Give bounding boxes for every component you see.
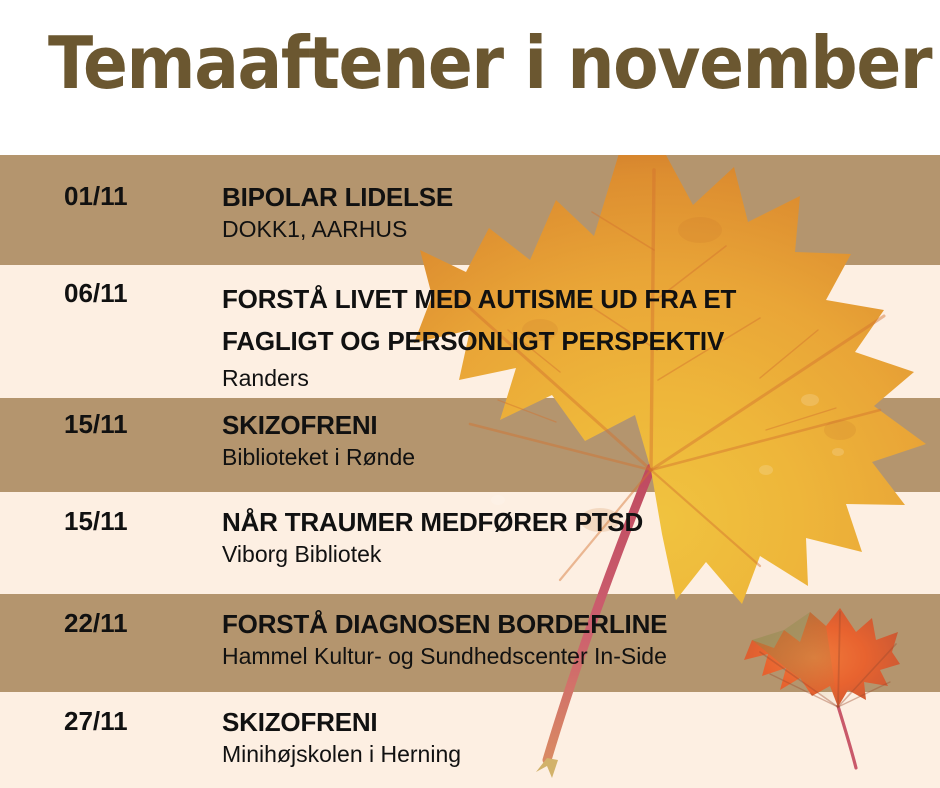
list-item[interactable]: 27/11 SKIZOFRENI Minihøjskolen i Herning	[0, 706, 940, 768]
entry-title: BIPOLAR LIDELSE	[222, 181, 940, 213]
entry-date: 06/11	[0, 278, 158, 308]
list-item[interactable]: 01/11 BIPOLAR LIDELSE DOKK1, AARHUS	[0, 181, 940, 243]
entry-body: SKIZOFRENI Minihøjskolen i Herning	[158, 706, 940, 768]
entry-venue: Viborg Bibliotek	[222, 540, 940, 568]
entry-title: SKIZOFRENI	[222, 409, 940, 441]
entry-body: FORSTÅ DIAGNOSEN BORDERLINE Hammel Kultu…	[158, 608, 940, 670]
list-item[interactable]: 15/11 SKIZOFRENI Biblioteket i Rønde	[0, 409, 940, 471]
entry-date: 15/11	[0, 506, 158, 536]
entry-body: SKIZOFRENI Biblioteket i Rønde	[158, 409, 940, 471]
entry-body: BIPOLAR LIDELSE DOKK1, AARHUS	[158, 181, 940, 243]
entry-venue: Biblioteket i Rønde	[222, 443, 940, 471]
entry-date: 15/11	[0, 409, 158, 439]
entry-venue: Hammel Kultur- og Sundhedscenter In-Side	[222, 642, 940, 670]
entry-body: FORSTÅ LIVET MED AUTISME UD FRA ET FAGLI…	[158, 278, 940, 392]
entry-venue: DOKK1, AARHUS	[222, 215, 940, 243]
entry-title: NÅR TRAUMER MEDFØRER PTSD	[222, 506, 940, 538]
list-item[interactable]: 15/11 NÅR TRAUMER MEDFØRER PTSD Viborg B…	[0, 506, 940, 568]
entry-body: NÅR TRAUMER MEDFØRER PTSD Viborg Bibliot…	[158, 506, 940, 568]
page-title: Temaaftener i november	[48, 24, 931, 102]
entry-venue: Minihøjskolen i Herning	[222, 740, 940, 768]
list-item[interactable]: 06/11 FORSTÅ LIVET MED AUTISME UD FRA ET…	[0, 278, 940, 392]
poster-canvas: Temaaftener i november 01/11 BIPOLAR LID…	[0, 0, 940, 788]
poster-header: Temaaftener i november	[0, 0, 940, 155]
list-item[interactable]: 22/11 FORSTÅ DIAGNOSEN BORDERLINE Hammel…	[0, 608, 940, 670]
entry-venue: Randers	[222, 364, 940, 392]
entry-date: 01/11	[0, 181, 158, 211]
schedule-list: 01/11 BIPOLAR LIDELSE DOKK1, AARHUS 06/1…	[0, 155, 940, 788]
entry-date: 22/11	[0, 608, 158, 638]
entry-title: FORSTÅ LIVET MED AUTISME UD FRA ET FAGLI…	[222, 278, 940, 362]
entry-date: 27/11	[0, 706, 158, 736]
entry-title: FORSTÅ DIAGNOSEN BORDERLINE	[222, 608, 940, 640]
entry-title: SKIZOFRENI	[222, 706, 940, 738]
